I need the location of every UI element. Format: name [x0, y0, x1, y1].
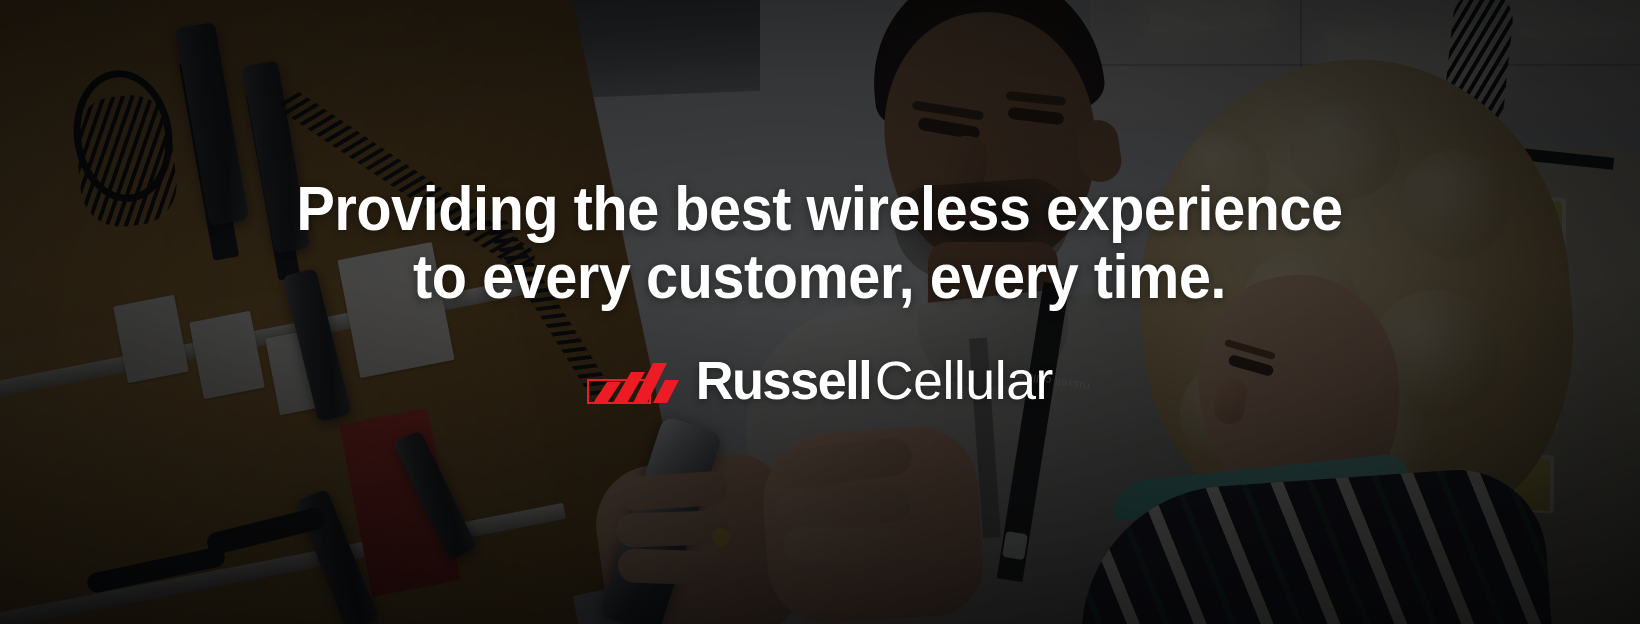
hero-headline: Providing the best wireless experience t…	[297, 176, 1343, 312]
hero-content: Providing the best wireless experience t…	[0, 0, 1640, 624]
headline-line-2: to every customer, every time.	[297, 244, 1343, 312]
speed-bars-icon	[587, 358, 679, 404]
logo-cellular-text: Cellular	[874, 354, 1052, 408]
headline-line-1: Providing the best wireless experience	[297, 176, 1343, 244]
logo-wordmark: Russell Cellular	[693, 354, 1054, 408]
russell-cellular-logo: Russell Cellular	[587, 354, 1054, 408]
hero-banner: russell cellular	[0, 0, 1640, 624]
logo-russell-text: Russell	[695, 354, 870, 408]
